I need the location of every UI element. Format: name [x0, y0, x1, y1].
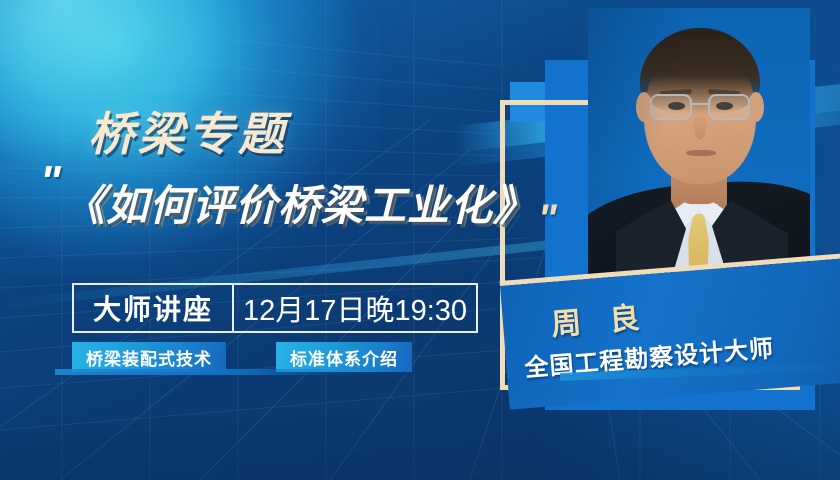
quote-open-icon: " — [40, 168, 59, 195]
topic-tag-list: 桥梁装配式技术 标准体系介绍 — [72, 342, 412, 372]
lecture-category-label: 大师讲座 — [74, 285, 234, 331]
lecture-datetime-label: 12月17日晚19:30 — [234, 285, 476, 331]
topic-tag: 标准体系介绍 — [276, 342, 412, 372]
footer-accent-left — [55, 369, 355, 375]
page-title: 桥梁专题 — [88, 98, 288, 164]
lecture-info-box: 大师讲座 12月17日晚19:30 — [72, 283, 478, 333]
page-subtitle: 《如何评价桥梁工业化》 — [63, 172, 536, 233]
quote-close-icon: " — [538, 207, 555, 231]
topic-tag: 桥梁装配式技术 — [72, 342, 226, 372]
subtitle-row: " 《如何评价桥梁工业化》 " — [40, 168, 555, 233]
portrait-zone — [480, 0, 840, 480]
webinar-poster: 桥梁专题 " 《如何评价桥梁工业化》 " 大师讲座 12月17日晚19:30 桥… — [0, 0, 840, 480]
